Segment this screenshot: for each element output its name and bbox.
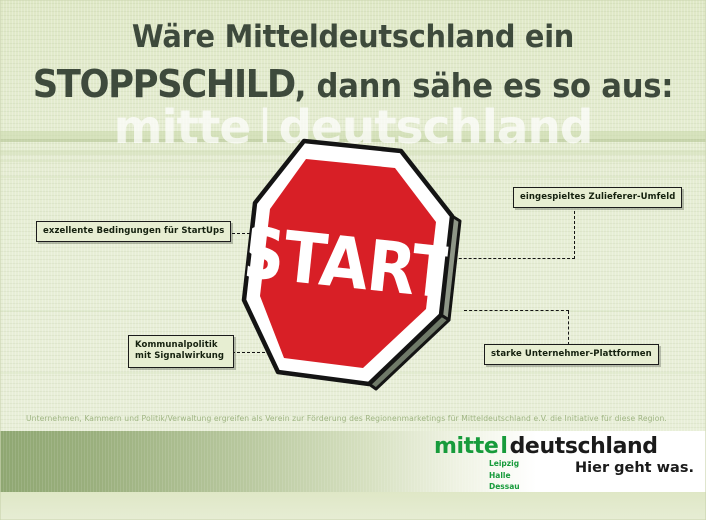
footer-disclaimer: Unternehmen, Kammern und Politik/Verwalt…: [26, 414, 686, 423]
edge-left: [0, 0, 1, 520]
callout-kommunalpolitik[interactable]: Kommunalpolitik mit Signalwirkung: [128, 335, 234, 368]
poster-header: Wäre Mitteldeutschland ein STOPPSCHILD, …: [0, 0, 706, 118]
logo-city-dessau: Dessau: [489, 481, 520, 493]
callout-zulieferer-text: eingespieltes Zulieferer-Umfeld: [520, 192, 675, 202]
headline-stoppschild: STOPPSCHILD: [33, 62, 295, 106]
connector-plattformen-vertical: [568, 311, 569, 345]
logo-city-halle: Halle: [489, 470, 520, 482]
callout-plattformen-text: starke Unternehmer-Plattformen: [491, 349, 652, 359]
headline-line-2: STOPPSCHILD, dann sähe es so aus:: [25, 62, 682, 106]
start-sign: START: [238, 137, 468, 399]
callout-plattformen[interactable]: starke Unternehmer-Plattformen: [484, 344, 659, 365]
headline-rest: , dann sähe es so aus:: [295, 66, 673, 105]
callout-startups[interactable]: exzellente Bedingungen für StartUps: [36, 221, 231, 242]
logo-city-leipzig: Leipzig: [489, 458, 520, 470]
callout-kommunal-line2: mit Signalwirkung: [135, 351, 227, 362]
headline-line-1: Wäre Mitteldeutschland ein: [25, 19, 682, 55]
callout-zulieferer[interactable]: eingespieltes Zulieferer-Umfeld: [513, 187, 682, 208]
bottom-strip: [0, 492, 706, 520]
logo-mitte: mitte: [434, 434, 498, 459]
mitteldeutschland-logo[interactable]: mitteldeutschland Leipzig Halle Dessau H…: [434, 436, 658, 458]
poster-canvas: Wäre Mitteldeutschland ein STOPPSCHILD, …: [0, 0, 706, 520]
callout-startups-text: exzellente Bedingungen für StartUps: [43, 226, 224, 236]
connector-plattformen-horizontal: [464, 310, 569, 311]
logo-claim: Hier geht was.: [575, 460, 694, 476]
callout-kommunal-line1: Kommunalpolitik: [135, 340, 227, 351]
logo-bar: l: [500, 434, 507, 459]
logo-wordmark: mitteldeutschland: [434, 436, 658, 458]
logo-cities: Leipzig Halle Dessau: [489, 458, 520, 493]
connector-zulieferer-vertical: [574, 211, 575, 259]
start-sign-graphic: START: [238, 137, 468, 399]
logo-deutschland: deutschland: [510, 434, 658, 459]
edge-top: [0, 0, 706, 1]
